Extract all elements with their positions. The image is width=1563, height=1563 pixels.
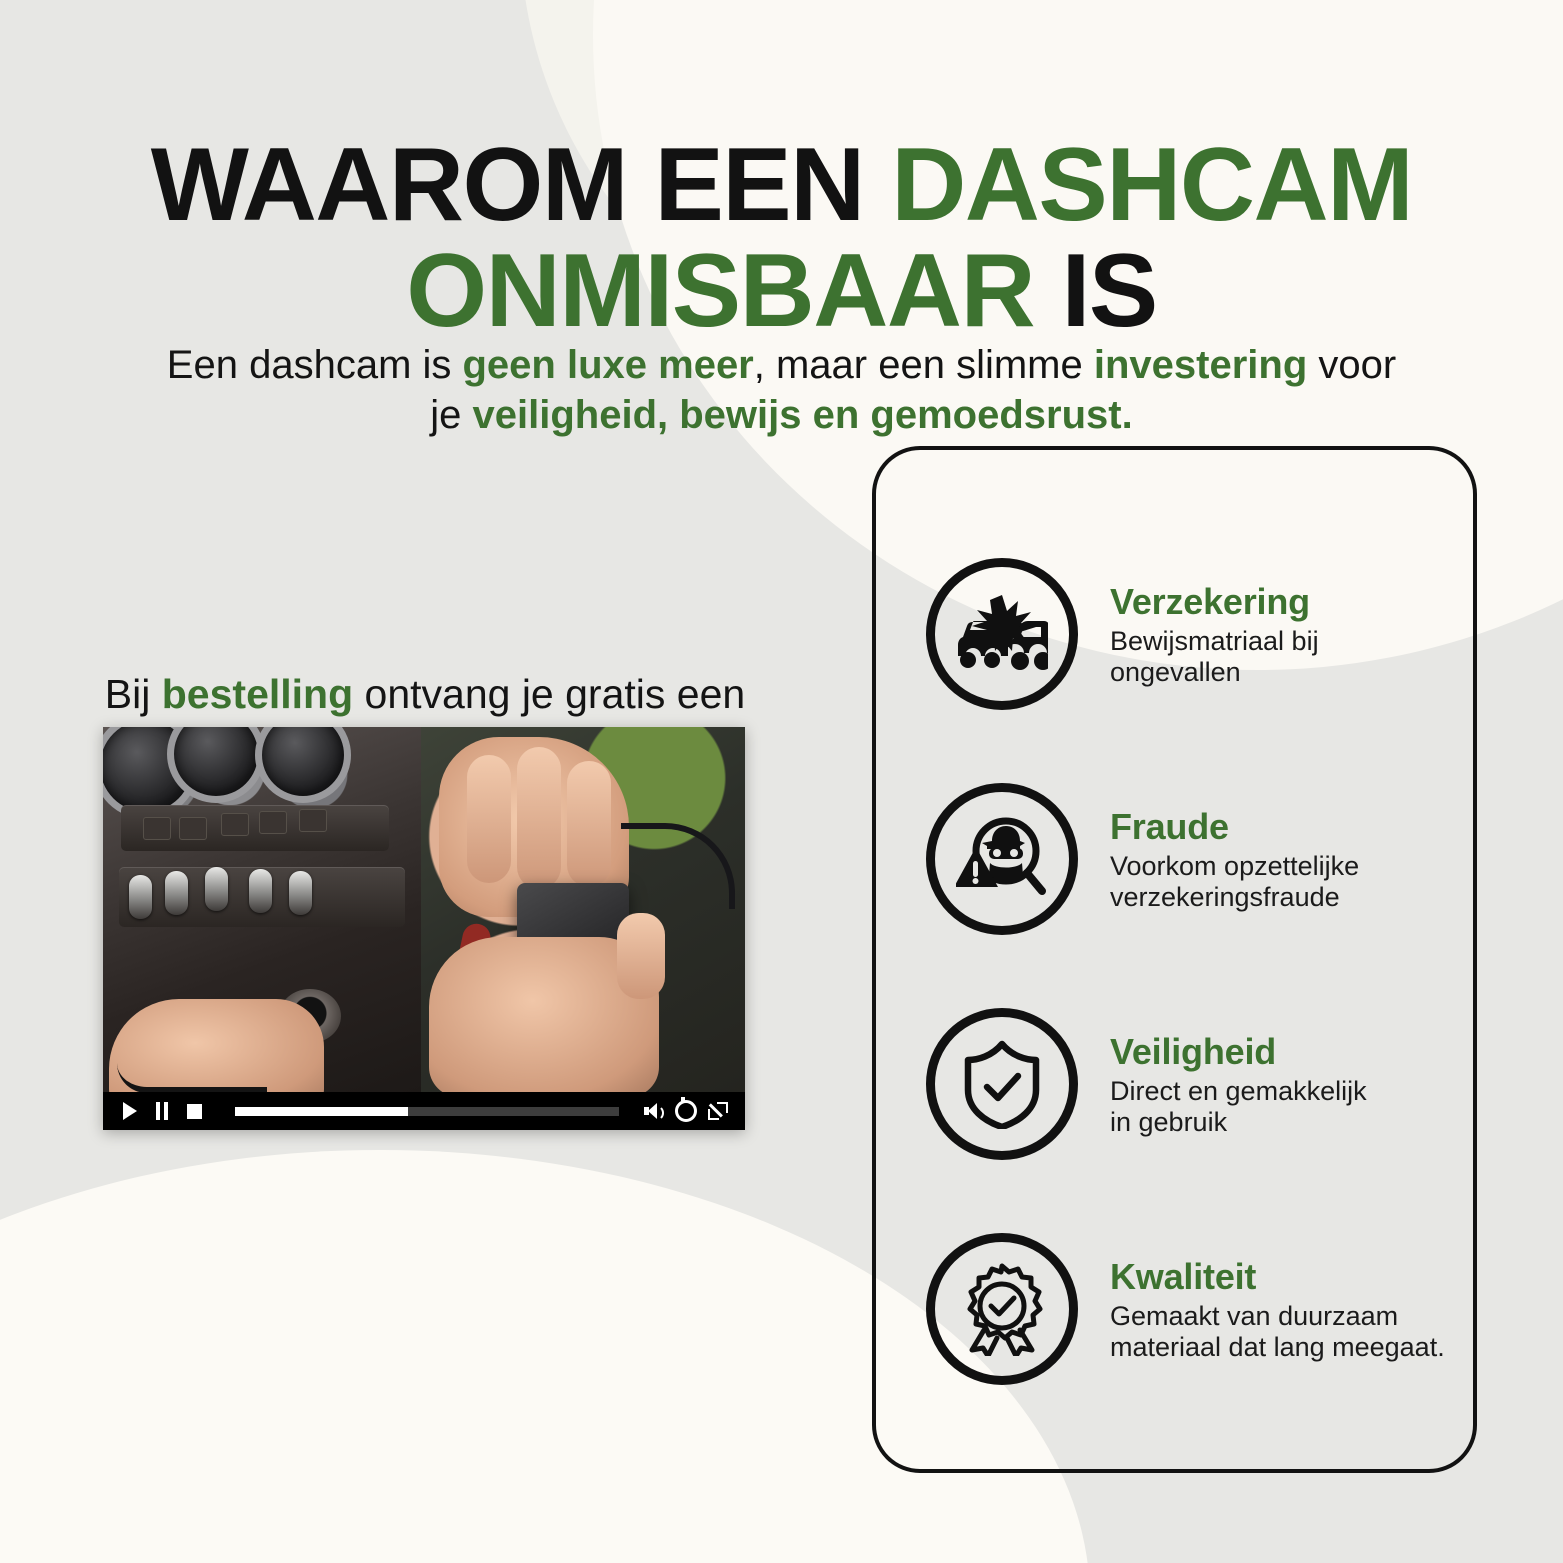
subhead-bold2: investering bbox=[1094, 343, 1307, 387]
shield-check-icon bbox=[926, 1008, 1078, 1160]
benefit-description: Voorkom opzettelijke verzekeringsfraude bbox=[1110, 851, 1477, 914]
video-frame[interactable] bbox=[103, 727, 745, 1092]
gear-icon[interactable] bbox=[675, 1100, 697, 1122]
benefit-item-kwaliteit[interactable]: Kwaliteit Gemaakt van duurzaam materiaal… bbox=[872, 1233, 1477, 1385]
finger bbox=[567, 761, 611, 887]
subhead-part2: , maar een slimme bbox=[754, 343, 1094, 387]
benefit-item-fraude[interactable]: Fraude Voorkom opzettelijke verzekerings… bbox=[872, 783, 1477, 935]
benefit-description: Gemaakt van duurzaam materiaal dat lang … bbox=[1110, 1301, 1477, 1364]
video-caption-part1: Bij bbox=[105, 671, 162, 717]
stop-icon[interactable] bbox=[183, 1100, 205, 1122]
benefit-text: Verzekering Bewijsmatriaal bij ongevalle… bbox=[1110, 579, 1477, 689]
finger bbox=[467, 755, 511, 883]
headline-line1-black: WAAROM EEN bbox=[151, 127, 891, 243]
dashcam-cable bbox=[621, 823, 735, 909]
volume-icon[interactable] bbox=[643, 1100, 665, 1122]
benefit-text: Fraude Voorkom opzettelijke verzekerings… bbox=[1110, 804, 1477, 914]
installation-video-player[interactable] bbox=[103, 727, 745, 1130]
benefit-description: Direct en gemakkelijk in gebruik bbox=[1110, 1076, 1477, 1139]
pause-icon[interactable] bbox=[151, 1100, 173, 1122]
benefit-description: Bewijsmatriaal bij ongevallen bbox=[1110, 626, 1477, 689]
dashboard-knob bbox=[249, 869, 272, 913]
play-icon[interactable] bbox=[119, 1100, 141, 1122]
quality-badge-icon bbox=[926, 1233, 1078, 1385]
fraud-magnifier-icon bbox=[926, 783, 1078, 935]
page-subtitle: Een dashcam is geen luxe meer, maar een … bbox=[150, 340, 1413, 441]
video-caption-part2: ontvang je gratis een bbox=[353, 671, 745, 717]
dashboard-button-ac bbox=[259, 811, 287, 834]
dashboard-vent bbox=[255, 727, 351, 803]
dashboard-knob bbox=[289, 871, 312, 915]
benefits-list: Verzekering Bewijsmatriaal bij ongevalle… bbox=[872, 446, 1477, 1473]
video-control-bar[interactable] bbox=[103, 1092, 745, 1130]
dashboard-button bbox=[143, 817, 171, 840]
headline-line1-green: DASHCAM bbox=[891, 127, 1412, 243]
dashboard-knob bbox=[165, 871, 188, 915]
dashboard-knob bbox=[129, 875, 152, 919]
benefit-item-veiligheid[interactable]: Veiligheid Direct en gemakkelijk in gebr… bbox=[872, 1008, 1477, 1160]
headline-line2-black: IS bbox=[1061, 233, 1156, 349]
fullscreen-icon[interactable] bbox=[707, 1100, 729, 1122]
benefit-text: Veiligheid Direct en gemakkelijk in gebr… bbox=[1110, 1029, 1477, 1139]
page-title: WAAROM EEN DASHCAM ONMISBAAR IS bbox=[0, 132, 1563, 344]
subhead-part1: Een dashcam is bbox=[167, 343, 463, 387]
benefit-item-verzekering[interactable]: Verzekering Bewijsmatriaal bij ongevalle… bbox=[872, 558, 1477, 710]
video-progress-bar[interactable] bbox=[235, 1107, 619, 1116]
video-caption-bold1: bestelling bbox=[162, 671, 353, 717]
power-cable bbox=[117, 1063, 267, 1092]
benefit-text: Kwaliteit Gemaakt van duurzaam materiaal… bbox=[1110, 1254, 1477, 1364]
dashboard-button-maxac bbox=[299, 809, 327, 832]
benefit-title: Kwaliteit bbox=[1110, 1258, 1477, 1297]
infographic-page: WAAROM EEN DASHCAM ONMISBAAR IS Een dash… bbox=[0, 0, 1563, 1563]
video-pane-dashcam-module bbox=[421, 727, 745, 1092]
finger bbox=[517, 747, 561, 889]
dashboard-button bbox=[179, 817, 207, 840]
subhead-bold1: geen luxe meer bbox=[463, 343, 754, 387]
headline-line2-green: ONMISBAAR bbox=[406, 233, 1061, 349]
benefit-title: Fraude bbox=[1110, 808, 1477, 847]
dashboard-knob bbox=[205, 867, 228, 911]
benefit-title: Verzekering bbox=[1110, 583, 1477, 622]
car-crash-icon bbox=[926, 558, 1078, 710]
video-pane-dashboard bbox=[103, 727, 421, 1092]
dashboard-button bbox=[221, 813, 249, 836]
benefit-title: Veiligheid bbox=[1110, 1033, 1477, 1072]
finger bbox=[617, 913, 665, 999]
subhead-bold3: veiligheid, bewijs en gemoedsrust. bbox=[473, 393, 1133, 437]
